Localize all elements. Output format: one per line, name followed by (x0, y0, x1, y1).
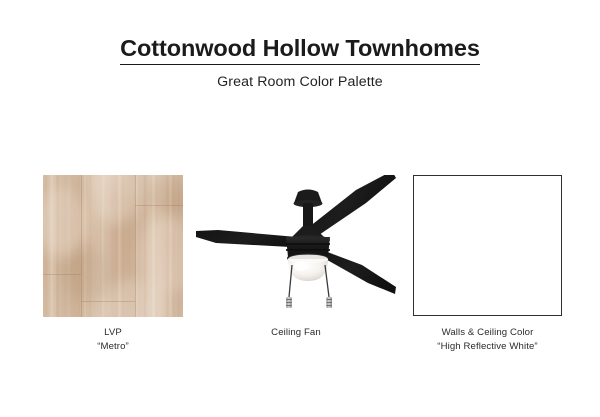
ceiling-fan-illustration (196, 175, 396, 317)
ceiling-fan-caption: Ceiling Fan (196, 326, 396, 340)
plank-seam (81, 175, 82, 317)
lvp-flooring-swatch (43, 175, 183, 317)
plank-end-joint (135, 205, 183, 206)
lvp-caption: LVP “Metro” (43, 326, 183, 353)
walls-ceiling-caption-line1: Walls & Ceiling Color (398, 326, 577, 340)
paint-color-swatch (413, 175, 562, 316)
ceiling-fan-caption-line1: Ceiling Fan (196, 326, 396, 340)
page-subtitle: Great Room Color Palette (0, 74, 600, 90)
palette-item-walls-ceiling (413, 175, 562, 316)
fan-pull-chain-left[interactable] (286, 265, 292, 308)
page-title: Cottonwood Hollow Townhomes (120, 36, 480, 65)
plank-seam (135, 175, 136, 317)
walls-ceiling-caption-line2: “High Reflective White” (398, 340, 577, 354)
plank-end-joint (81, 301, 135, 302)
fan-light-globe (288, 254, 329, 282)
lvp-caption-line2: “Metro” (43, 340, 183, 354)
palette-item-ceiling-fan (196, 175, 396, 317)
walls-ceiling-caption: Walls & Ceiling Color “High Reflective W… (398, 326, 577, 353)
ceiling-fan-image (196, 175, 396, 317)
fan-pull-chain-right[interactable] (325, 265, 332, 308)
plank-end-joint (43, 274, 81, 275)
board-heading: Cottonwood Hollow Townhomes Great Room C… (0, 36, 600, 90)
wood-tone-blotch (147, 175, 183, 215)
fan-downrod (303, 203, 313, 227)
color-palette-board: Cottonwood Hollow Townhomes Great Room C… (0, 0, 600, 417)
palette-items-row: LVP “Metro” (0, 175, 600, 360)
lvp-caption-line1: LVP (43, 326, 183, 340)
fan-blade-upper-right (304, 175, 396, 239)
wood-tone-blotch (63, 249, 113, 301)
palette-item-lvp (43, 175, 183, 317)
